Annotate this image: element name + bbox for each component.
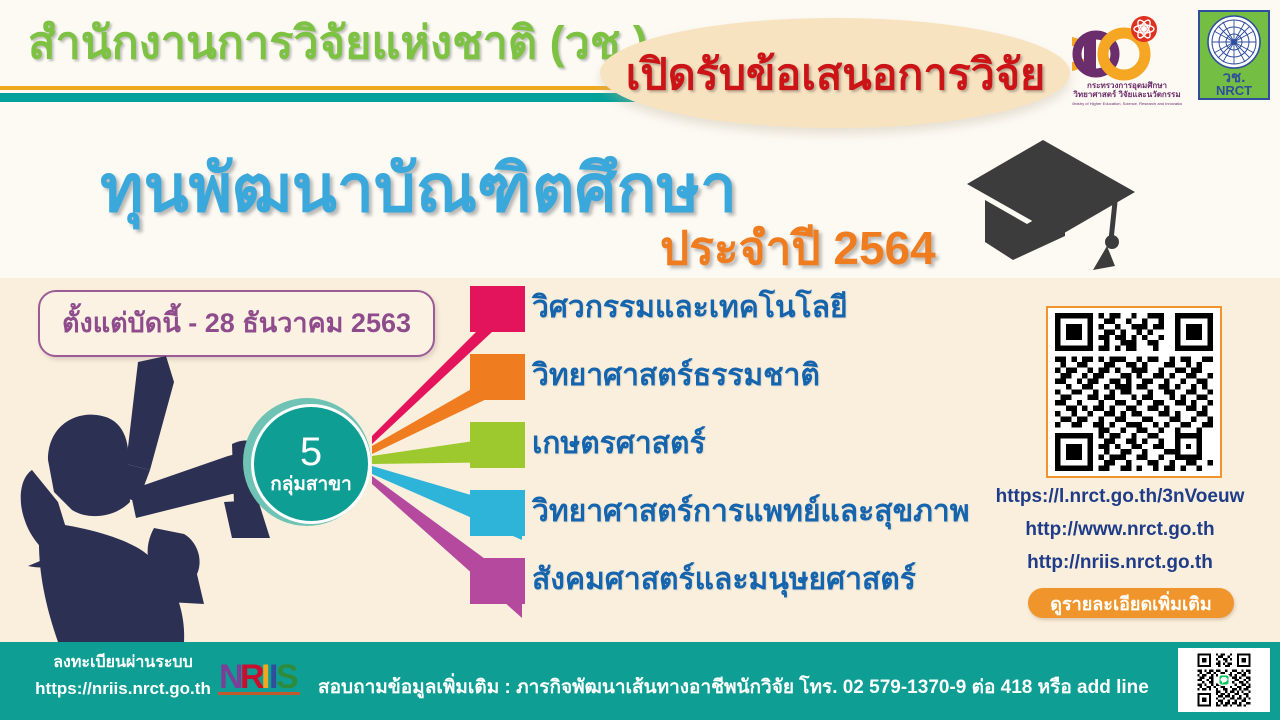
qr-code-line[interactable] <box>1178 648 1270 712</box>
category-list: วิศวกรรมและเทคโนโลยี วิทยาศาสตร์ธรรมชาติ… <box>470 286 1030 626</box>
svg-text:S: S <box>276 658 299 696</box>
footer-contact-info: สอบถามข้อมูลเพิ่มเติม : ภารกิจพัฒนาเส้นท… <box>318 672 1149 702</box>
category-label: สังคมศาสตร์และมนุษยศาสตร์ <box>532 556 916 603</box>
category-item: วิศวกรรมและเทคโนโลยี <box>470 286 1030 354</box>
category-label: วิศวกรรมและเทคโนโลยี <box>532 284 848 331</box>
link-list: https://l.nrct.go.th/3nVoeuw http://www.… <box>960 486 1280 585</box>
page-title-year: ประจำปี 2564 <box>660 212 936 285</box>
category-color-bar-2 <box>470 354 525 400</box>
graduation-cap-icon <box>955 132 1145 272</box>
ministry-logo: กระทรวงการอุดมศึกษา วิทยาศาสตร์ วิจัยและ… <box>1072 12 1182 108</box>
header-divider <box>0 86 700 102</box>
nrct-logo: วช. NRCT <box>1198 10 1270 100</box>
organization-name: สำนักงานการวิจัยแห่งชาติ (วช.) <box>28 6 648 78</box>
category-count-caption: กลุ่มสาขา <box>270 474 352 497</box>
category-color-bar-1 <box>470 286 525 332</box>
ministry-name-en: Ministry of Higher Education, Science, R… <box>1072 101 1182 106</box>
nrct-abbr-en: NRCT <box>1216 83 1252 98</box>
category-color-bar-5 <box>470 558 525 604</box>
banner-headline: เปิดรับข้อเสนอการวิจัย <box>608 40 1063 108</box>
poster-root: สำนักงานการวิจัยแห่งชาติ (วช.) เปิดรับข้… <box>0 0 1280 720</box>
category-color-bar-3 <box>470 422 525 468</box>
category-count-number: 5 <box>300 432 322 472</box>
category-item: สังคมศาสตร์และมนุษยศาสตร์ <box>470 558 1030 626</box>
category-color-bar-4 <box>470 490 525 536</box>
category-label: วิทยาศาสตร์การแพทย์และสุขภาพ <box>532 488 969 535</box>
category-label: เกษตรศาสตร์ <box>532 420 706 467</box>
link-shortlink[interactable]: https://l.nrct.go.th/3nVoeuw <box>960 486 1280 508</box>
ministry-name-th-2: วิทยาศาสตร์ วิจัยและนวัตกรรม <box>1073 89 1181 99</box>
footer-registration-block: ลงทะเบียนผ่านระบบ https://nriis.nrct.go.… <box>18 650 228 699</box>
category-count-circle: 5 กลุ่มสาขา <box>251 404 371 524</box>
nriis-logo: N R I I S <box>218 654 308 702</box>
category-item: วิทยาศาสตร์ธรรมชาติ <box>470 354 1030 422</box>
link-nriis-website[interactable]: http://nriis.nrct.go.th <box>960 552 1280 574</box>
category-label: วิทยาศาสตร์ธรรมชาติ <box>532 352 820 399</box>
category-item: เกษตรศาสตร์ <box>470 422 1030 490</box>
more-details-button[interactable]: ดูรายละเอียดเพิ่มเติม <box>1028 588 1234 618</box>
footer-registration-url[interactable]: https://nriis.nrct.go.th <box>18 679 228 699</box>
qr-code-main[interactable] <box>1046 306 1222 478</box>
category-item: วิทยาศาสตร์การแพทย์และสุขภาพ <box>470 490 1030 558</box>
link-nrct-website[interactable]: http://www.nrct.go.th <box>960 519 1280 541</box>
divider-teal-line <box>0 93 700 102</box>
page-title: ทุนพัฒนาบัณฑิตศึกษา <box>100 136 737 241</box>
footer-registration-label: ลงทะเบียนผ่านระบบ <box>18 650 228 675</box>
